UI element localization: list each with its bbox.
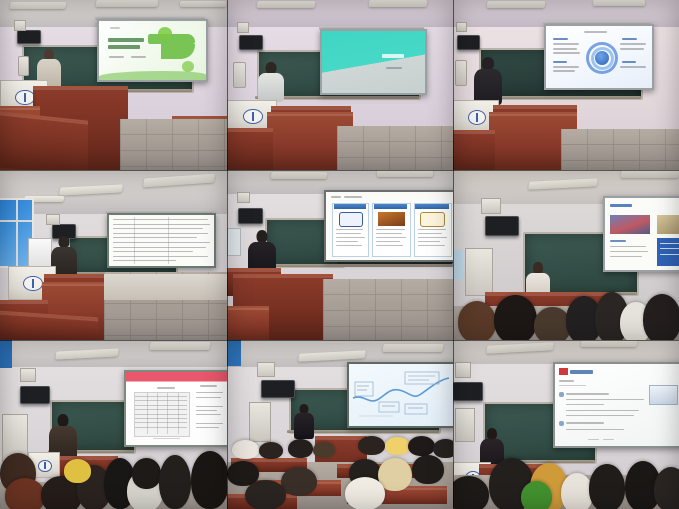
ceiling-lamp [256, 1, 315, 8]
audience-head [458, 301, 496, 340]
slide-divider [168, 217, 169, 264]
slide-card-line [376, 237, 406, 238]
table-row-line [135, 400, 187, 401]
table-row-line [135, 422, 187, 423]
ceiling-lamp [377, 170, 433, 177]
slide-section-line [559, 380, 574, 382]
collage-cell-1[interactable] [0, 0, 227, 170]
projection-screen [603, 196, 679, 272]
projection-screen [324, 190, 453, 262]
slide-header-line [584, 31, 607, 33]
slide-dot [158, 27, 172, 40]
audience-area [227, 436, 453, 509]
slide-photo-blue [605, 198, 679, 270]
slide-card-line [336, 241, 358, 242]
wall-panel [20, 368, 36, 382]
slide-bullet [553, 70, 574, 72]
audience-head [288, 439, 313, 458]
audience-head [259, 442, 284, 460]
slide-title-line [108, 45, 140, 49]
slide-card-line [336, 229, 363, 230]
table-row-line [135, 418, 187, 419]
wall-monitor [238, 208, 263, 224]
grid-seam-horizontal [0, 340, 679, 341]
audience-head [232, 440, 259, 459]
ceiling-lamp [620, 170, 679, 178]
audience-head [453, 476, 489, 509]
podium-emblem [468, 110, 487, 125]
slide-bullet [553, 52, 580, 54]
grid-seam-vertical [227, 0, 228, 509]
floor-tiles [323, 279, 453, 340]
slide-text-line [196, 423, 223, 424]
slide-bullet [620, 48, 643, 50]
wall-monitor [485, 216, 519, 236]
slide-text-line [113, 256, 208, 257]
classroom-scene-2 [227, 0, 453, 170]
table-row-line [135, 414, 187, 415]
presenter-body [258, 73, 284, 102]
slide-card-line [418, 241, 440, 242]
audience-head [385, 437, 410, 455]
slide-text-line [196, 392, 223, 393]
audience-head [191, 451, 227, 509]
slide-card-line [376, 233, 402, 234]
slide-card-header [334, 204, 366, 209]
classroom-scene-6 [453, 170, 679, 340]
slide-card-line [336, 233, 361, 234]
slide-text-line [610, 246, 646, 247]
table-col-line [147, 393, 148, 434]
collage-cell-7[interactable] [0, 340, 227, 509]
window-bar [16, 200, 18, 266]
wall-panel [14, 20, 26, 31]
audience-head [643, 294, 679, 340]
slide-bullet [622, 61, 636, 63]
slide-flowchart [349, 364, 453, 426]
chart-line [353, 378, 449, 401]
slide-text-line [610, 251, 648, 252]
projection-screen [544, 24, 654, 90]
projection-screen [320, 29, 427, 95]
audience-head [132, 458, 162, 489]
slide-card-header [374, 204, 408, 209]
table-col-line [178, 393, 179, 434]
classroom-scene-3 [453, 0, 679, 170]
slide-card-line [336, 237, 364, 238]
audience-head [345, 477, 386, 509]
slide-text-line [566, 429, 624, 430]
slide-shape [99, 71, 206, 80]
grid-seam-horizontal [0, 170, 679, 171]
wall-panel [237, 22, 249, 33]
audience-head [589, 464, 625, 509]
slide-text-line [566, 422, 604, 424]
slide-text-line [113, 228, 203, 229]
audience-head [654, 467, 679, 509]
slide-title-line [108, 38, 144, 42]
slide-bullet [620, 66, 645, 68]
wall-monitor [17, 30, 41, 44]
ceiling-lamp [580, 340, 637, 347]
floor-tiles [561, 129, 679, 170]
slide-title-line [200, 385, 216, 387]
slide-text-line [566, 410, 639, 411]
slide-card-line [376, 245, 403, 246]
audience-head [433, 439, 453, 458]
ceiling-lamp [369, 0, 428, 7]
bullet-marker [559, 421, 564, 426]
audience-head [494, 295, 537, 340]
slide-shape [161, 44, 195, 59]
slide-text-line [113, 242, 210, 243]
wall-panel [481, 198, 501, 214]
slide-bullet [553, 61, 567, 63]
slide-logo-rings [586, 42, 618, 74]
audience-head [408, 436, 435, 456]
photo-collage-grid [0, 0, 679, 509]
wall-panel [455, 60, 467, 86]
classroom-scene-5 [227, 170, 453, 340]
slide-card-line [376, 229, 404, 230]
audience-head [64, 459, 91, 482]
flow-box [405, 404, 427, 414]
slide-dot [182, 61, 194, 72]
presenter [247, 230, 277, 272]
slide-text-line [113, 260, 176, 261]
slide-accent-bar [559, 368, 568, 375]
audience-head [159, 455, 191, 509]
table-row-line [135, 396, 187, 397]
classroom-scene-7 [0, 340, 227, 509]
window-edge [227, 340, 241, 366]
front-desk [0, 111, 88, 170]
slide-text-line [610, 256, 642, 257]
slide-card-line [418, 233, 443, 234]
slide-card-image [339, 212, 363, 228]
wall-panel [257, 362, 275, 377]
slide-teal [322, 31, 425, 93]
ceiling-lamp [9, 2, 66, 9]
audience [0, 431, 227, 509]
wall-panel [237, 192, 250, 203]
slide-bullet [553, 48, 576, 50]
slide-text-line [566, 415, 634, 416]
slide-card-image [378, 212, 405, 226]
slide-title-line [382, 54, 405, 58]
table-row-line [135, 405, 187, 406]
collage-cell-2[interactable] [227, 0, 453, 170]
projection-screen [347, 362, 453, 428]
ceiling-lamp [149, 342, 210, 350]
slide-bullet [620, 43, 645, 45]
slide-text-line [660, 243, 679, 244]
slide-text-line [113, 251, 193, 252]
wall-monitor [239, 35, 263, 50]
slide-image [649, 385, 679, 405]
wall-panel [227, 228, 241, 256]
collage-cell-8[interactable] [227, 340, 453, 509]
audience-head [5, 478, 46, 509]
projection-screen [97, 19, 208, 82]
slide-green [99, 21, 206, 80]
table-col-line [157, 393, 158, 434]
slide-card-line [376, 241, 399, 242]
projection-screen [107, 213, 216, 268]
slide-caption-line [610, 240, 626, 242]
slide-text-line [113, 247, 205, 248]
podium-emblem [243, 109, 263, 124]
slide-blue [546, 26, 652, 88]
table-col-line [167, 393, 168, 434]
audience [453, 272, 679, 340]
slide-sub-line [109, 56, 124, 58]
slide-card-line [418, 237, 448, 238]
wall-panel [233, 62, 246, 88]
slide-title-line [157, 387, 176, 389]
audience-head [358, 436, 385, 455]
slide-bullet [553, 43, 578, 45]
slide-photo [610, 215, 650, 234]
slide-card-line [336, 245, 362, 246]
audience-head [412, 455, 444, 484]
slide-text-line [196, 397, 221, 398]
collage-cell-4[interactable] [0, 170, 227, 340]
flow-box [355, 382, 373, 396]
floor-tiles [337, 126, 453, 170]
slide-title-line [570, 370, 593, 374]
front-desk [453, 130, 495, 170]
bullet-marker [559, 392, 564, 397]
slide-card-line [418, 245, 445, 246]
presenter [293, 404, 315, 438]
slide-text [109, 215, 214, 266]
slide-card-header [415, 204, 449, 209]
slide-sub-line [110, 27, 121, 29]
collage-cell-6[interactable] [453, 170, 679, 340]
podium-emblem [15, 90, 34, 105]
slide-card-image [420, 212, 445, 228]
slide-text-line [566, 399, 644, 400]
chalk-rail [263, 264, 453, 267]
ceiling-lamp [593, 0, 645, 6]
ceiling-lamp [382, 344, 443, 352]
stage-step [104, 274, 227, 300]
flow-box [379, 402, 399, 412]
front-desk [227, 306, 269, 340]
slide-header-line [344, 196, 362, 198]
window-edge [0, 340, 12, 368]
audience-head [281, 467, 317, 496]
classroom-scene-1 [0, 0, 227, 170]
audience-head [245, 480, 286, 509]
classroom-scene-9 [453, 340, 679, 509]
audience-head [521, 481, 553, 509]
wall-panel [455, 362, 471, 378]
floor [323, 279, 453, 340]
wall-panel [18, 56, 29, 76]
wall-panel [456, 22, 467, 32]
slide-title-line [610, 204, 632, 207]
slide-text-line [113, 224, 210, 225]
grid-seam-vertical [453, 0, 454, 509]
ceiling-lamp [270, 172, 327, 179]
wall-monitor [261, 380, 295, 398]
slide-bullet [622, 38, 637, 40]
floor [120, 119, 227, 170]
slide-photo [657, 215, 679, 234]
slide-text-line [566, 404, 604, 405]
ceiling-lamp [96, 0, 159, 7]
presenter [473, 57, 503, 103]
flow-box [405, 372, 439, 384]
table-row-line [135, 427, 187, 428]
slide-text-line [196, 406, 223, 407]
slide-text-line [113, 237, 197, 238]
slide-text-line [113, 219, 208, 220]
wall-panel [46, 214, 60, 225]
ceiling-lamp [486, 1, 545, 8]
slide-bullet [553, 66, 578, 68]
floor-tiles [120, 119, 227, 170]
slide-text-line [566, 393, 609, 395]
table-row-line [135, 409, 187, 410]
collage-cell-5[interactable] [227, 170, 453, 340]
slide-text-line [196, 427, 219, 428]
slide-sub-line [131, 56, 146, 58]
podium-emblem [23, 276, 42, 291]
slide-text-line [196, 414, 221, 415]
slide-shape [148, 34, 195, 44]
audience [453, 435, 679, 509]
wall-monitor [453, 382, 483, 401]
slide-sub-line [386, 67, 402, 69]
collage-cell-3[interactable] [453, 0, 679, 170]
slide-text-line [113, 233, 208, 234]
slide-bullet [553, 38, 568, 40]
wall-monitor [20, 386, 50, 404]
collage-cell-9[interactable] [453, 340, 679, 509]
slide-header-line [331, 196, 341, 198]
wall-monitor [457, 35, 480, 50]
slide-three-cards [326, 192, 453, 260]
audience-head [313, 442, 336, 458]
classroom-scene-8 [227, 340, 453, 509]
flow-chart-svg [349, 364, 453, 426]
floor [561, 129, 679, 170]
presenter [257, 62, 285, 100]
slide-text-line [559, 385, 587, 386]
slide-text-line [660, 254, 679, 255]
slide-divider [134, 217, 135, 264]
slide-text-line [196, 410, 217, 411]
floor [337, 126, 453, 170]
front-desk [227, 128, 273, 170]
ceiling-lamp [180, 1, 226, 7]
slide-card-line [418, 229, 446, 230]
classroom-scene-4 [0, 170, 227, 340]
